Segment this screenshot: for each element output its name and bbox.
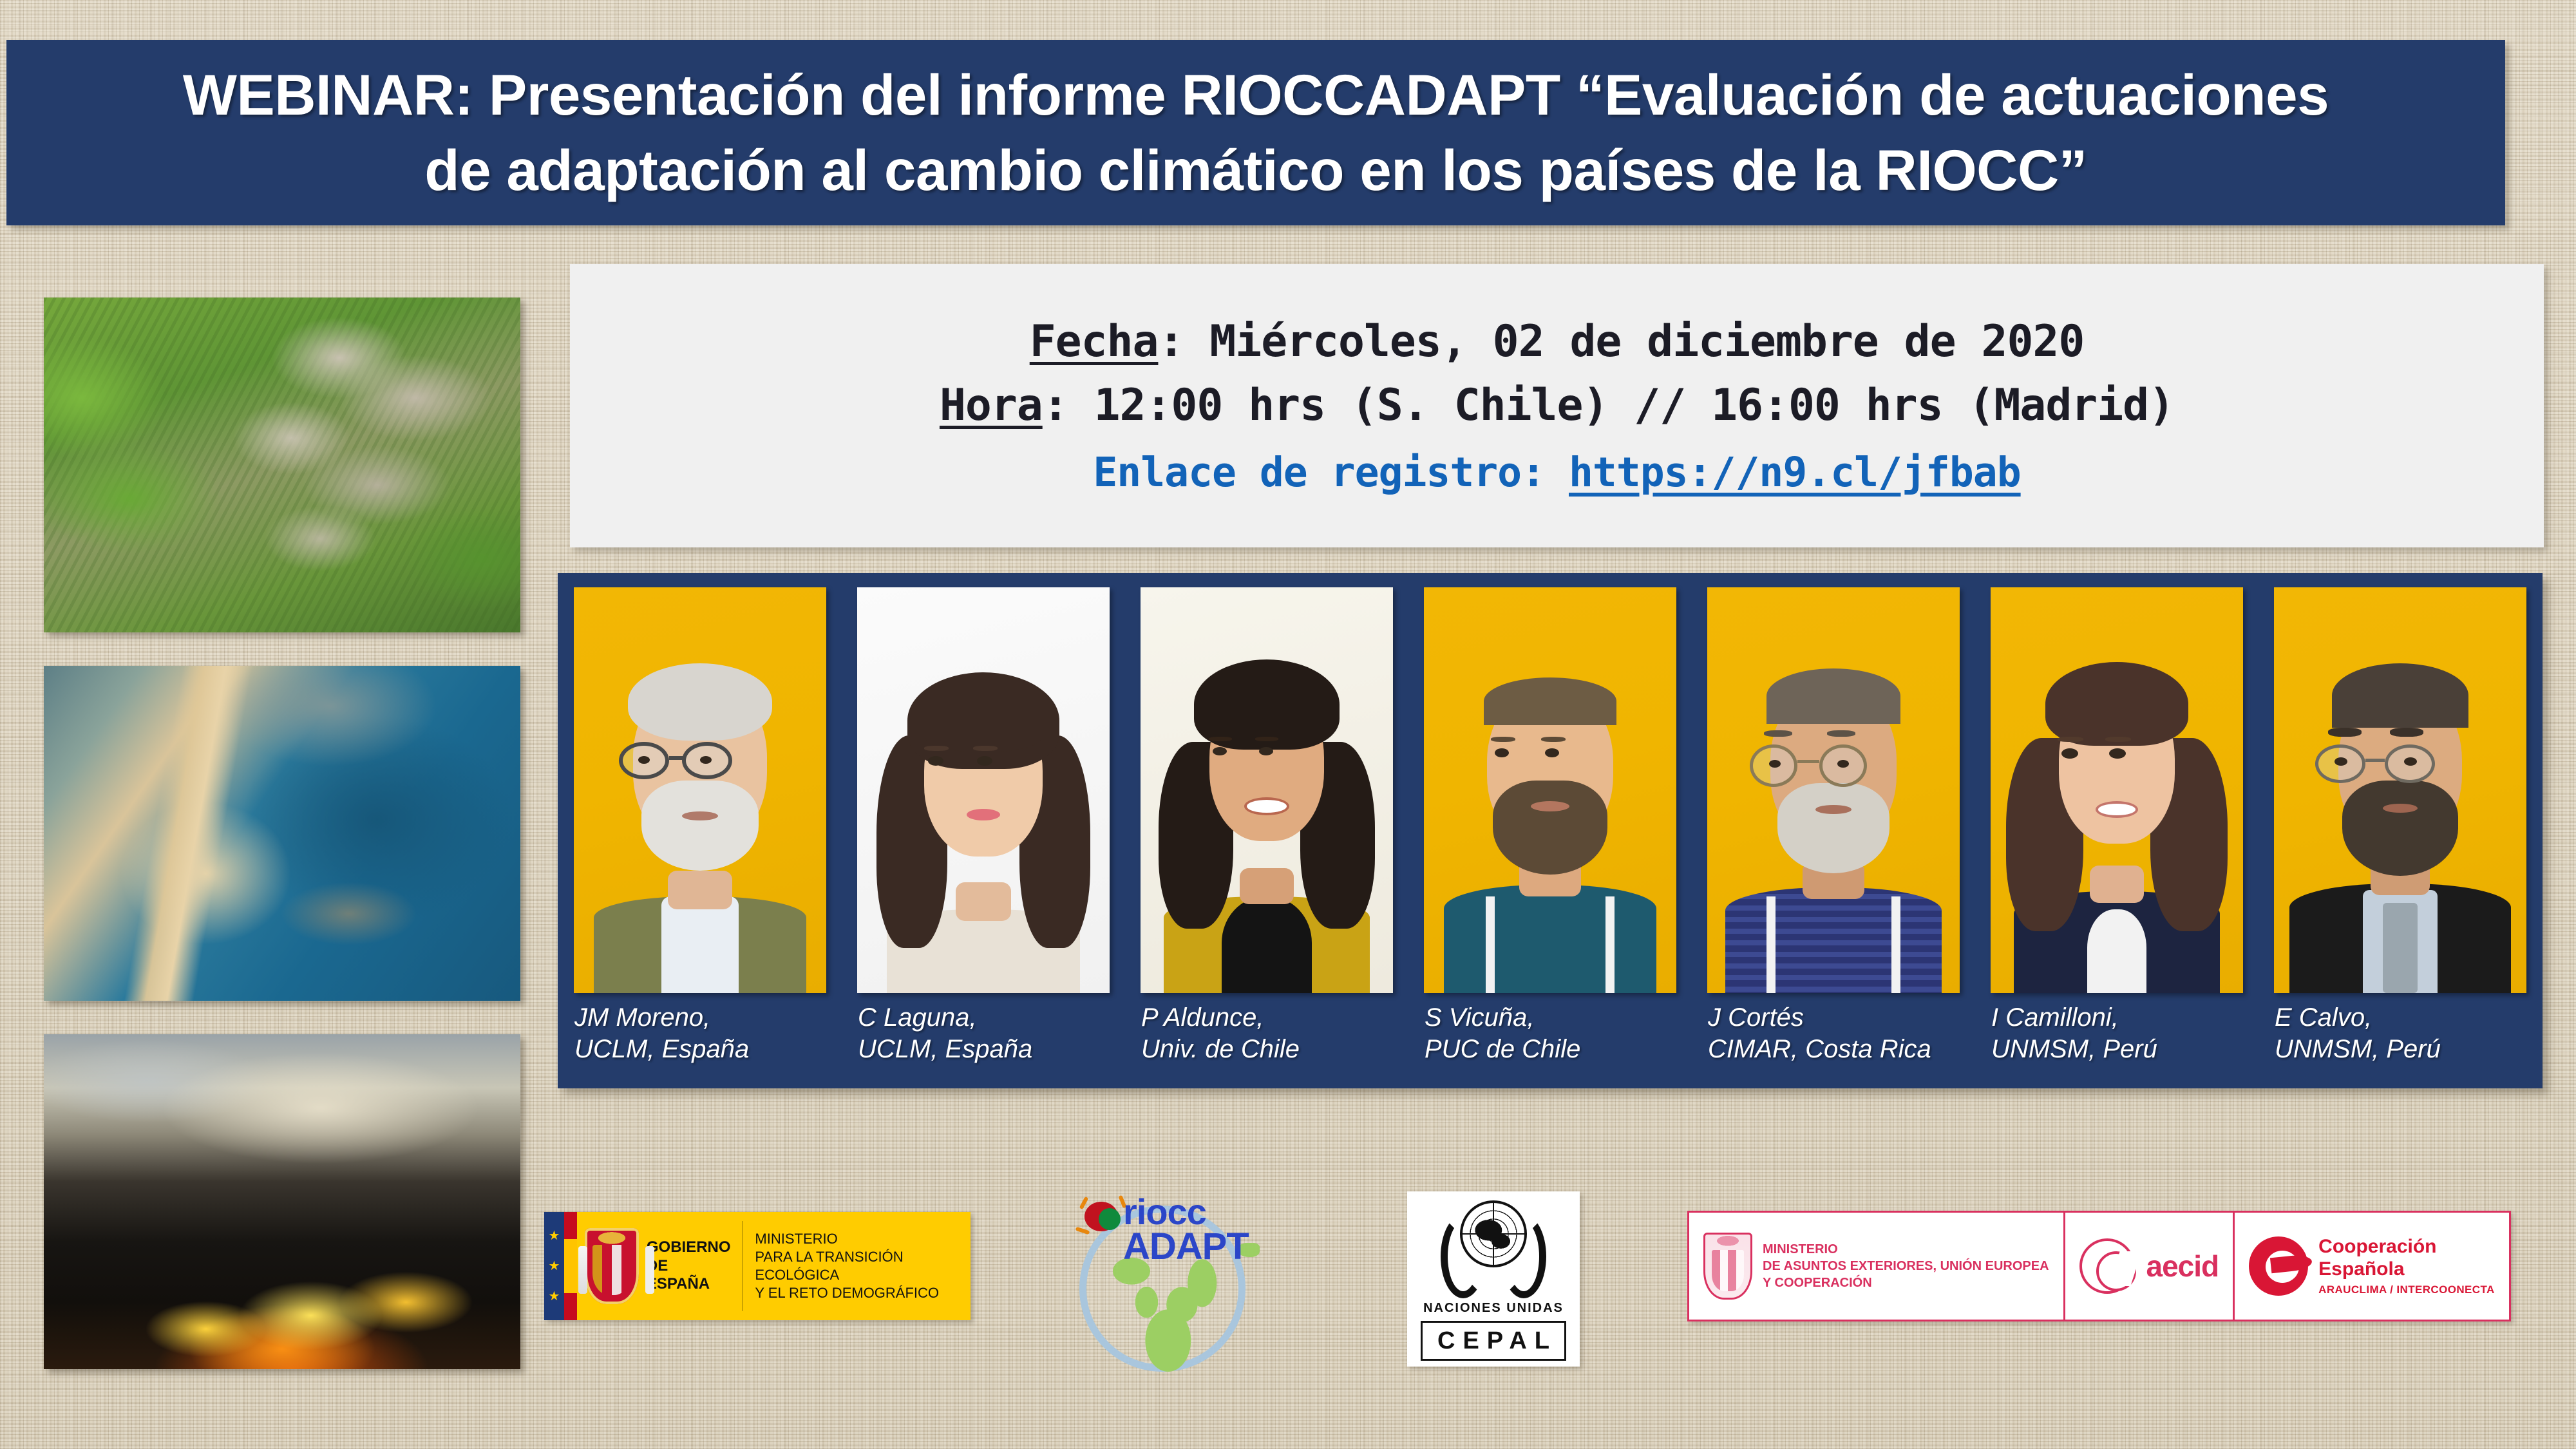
logo-row: ★ ★ ★ GOBIERNO DE ESPAÑA MINISTERIO PARA…	[0, 1191, 2576, 1385]
arauclima-intercoonecta-text: ARAUCLIMA / INTERCOONECTA	[2318, 1283, 2494, 1296]
speaker-affiliation: UCLM, España	[574, 1034, 749, 1065]
registration-line: Enlace de registro: https://n9.cl/jfbab	[1093, 449, 2020, 496]
event-time-line: Hora: 12:00 hrs (S. Chile) // 16:00 hrs …	[940, 380, 2174, 431]
naciones-unidas-text: NACIONES UNIDAS	[1423, 1301, 1564, 1316]
time-value: : 12:00 hrs (S. Chile) // 16:00 hrs (Mad…	[1043, 380, 2174, 431]
title-line-1: WEBINAR: Presentación del informe RIOCCA…	[183, 57, 2329, 133]
speaker-caption: I Camilloni, UNMSM, Perú	[1987, 1002, 2157, 1065]
speaker-card: P Aldunce, Univ. de Chile	[1137, 587, 1396, 1065]
cooperacion-espanola-logo: Cooperación Española ARAUCLIMA / INTERCO…	[2235, 1213, 2508, 1320]
speaker-caption: C Laguna, UCLM, España	[854, 1002, 1032, 1065]
speaker-photo-jm-moreno	[574, 587, 826, 993]
registration-label: Enlace de registro:	[1093, 449, 1569, 496]
cepal-text: CEPAL	[1430, 1327, 1557, 1355]
speaker-card: J Cortés CIMAR, Costa Rica	[1704, 587, 1963, 1065]
sun-earth-icon	[1079, 1197, 1128, 1236]
eu-stars: ★ ★ ★	[544, 1212, 564, 1320]
ministerio-transicion-ecologica-text: MINISTERIO PARA LA TRANSICIÓN ECOLÓGICA …	[743, 1230, 971, 1303]
united-nations-emblem-icon	[1438, 1197, 1549, 1300]
riocc-adapt-logo: riocc ADAPT	[1056, 1188, 1269, 1381]
riocc-adapt-wordmark: riocc ADAPT	[1123, 1195, 1249, 1264]
star-icon: ★	[549, 1229, 560, 1242]
maec-text: MINISTERIO DE ASUNTOS EXTERIORES, UNIÓN …	[1763, 1241, 2049, 1291]
cooperacion-espanola-text: Cooperación Española ARAUCLIMA / INTERCO…	[2318, 1236, 2494, 1296]
speaker-photo-j-cortes	[1707, 587, 1960, 993]
aecid-logo: aecid	[2065, 1213, 2233, 1320]
star-icon: ★	[549, 1290, 560, 1303]
speaker-photo-e-calvo	[2274, 587, 2526, 993]
registration-link[interactable]: https://n9.cl/jfbab	[1569, 449, 2021, 496]
speaker-affiliation: PUC de Chile	[1425, 1034, 1580, 1065]
speaker-name: C Laguna,	[858, 1002, 1032, 1034]
spain-coat-of-arms-icon	[585, 1228, 639, 1304]
aecid-text: aecid	[2146, 1249, 2219, 1283]
speaker-caption: S Vicuña, PUC de Chile	[1421, 1002, 1580, 1065]
riocc-word: riocc	[1123, 1195, 1249, 1229]
speaker-panel: JM Moreno, UCLM, España C Laguna, UCLM, …	[558, 573, 2543, 1088]
speaker-affiliation: CIMAR, Costa Rica	[1708, 1034, 1931, 1065]
speaker-card: I Camilloni, UNMSM, Perú	[1987, 587, 2246, 1065]
speaker-name: I Camilloni,	[1991, 1002, 2157, 1034]
gobierno-de-espana-text: GOBIERNO DE ESPAÑA	[643, 1238, 743, 1294]
speaker-caption: E Calvo, UNMSM, Perú	[2271, 1002, 2441, 1065]
cooperacion-espanola-logo-group: MINISTERIO DE ASUNTOS EXTERIORES, UNIÓN …	[1687, 1211, 2511, 1321]
cooperacion-line1: Cooperación	[2318, 1236, 2494, 1258]
speaker-card: E Calvo, UNMSM, Perú	[2271, 587, 2530, 1065]
star-icon: ★	[549, 1260, 560, 1273]
speaker-name: P Aldunce,	[1141, 1002, 1300, 1034]
hillside-informal-settlement-photo	[44, 298, 520, 632]
spain-coat-of-arms-icon	[1703, 1233, 1752, 1300]
speaker-photo-i-camilloni	[1991, 587, 2243, 993]
eu-flag-bar: ★ ★ ★	[544, 1212, 564, 1320]
speaker-name: J Cortés	[1708, 1002, 1931, 1034]
speaker-photo-c-laguna	[857, 587, 1110, 993]
cooperacion-line2: Española	[2318, 1258, 2494, 1281]
time-label: Hora	[940, 380, 1043, 431]
gobierno-miteco-logo: ★ ★ ★ GOBIERNO DE ESPAÑA MINISTERIO PARA…	[544, 1212, 971, 1320]
event-info-box: Fecha: Miércoles, 02 de diciembre de 202…	[570, 264, 2544, 547]
adapt-word: ADAPT	[1123, 1229, 1249, 1265]
title-line-2: de adaptación al cambio climático en los…	[424, 133, 2087, 208]
date-value: : Miércoles, 02 de diciembre de 2020	[1158, 316, 2084, 367]
cepal-logo: NACIONES UNIDAS CEPAL	[1407, 1191, 1580, 1367]
speaker-photo-s-vicuna	[1424, 587, 1676, 993]
speaker-card: C Laguna, UCLM, España	[854, 587, 1113, 1065]
cepal-name-box: CEPAL	[1421, 1321, 1566, 1361]
speaker-caption: JM Moreno, UCLM, España	[571, 1002, 749, 1065]
speaker-photo-p-aldunce	[1141, 587, 1393, 993]
aecid-c-mark-icon	[2079, 1238, 2135, 1294]
aerial-coastal-bay-photo	[44, 666, 520, 1001]
speaker-card: S Vicuña, PUC de Chile	[1421, 587, 1680, 1065]
latin-america-map-icon	[1099, 1252, 1225, 1372]
cooperacion-c-mark-icon	[2249, 1236, 2308, 1296]
speaker-caption: P Aldunce, Univ. de Chile	[1137, 1002, 1300, 1065]
spain-flag-stripe	[564, 1212, 577, 1320]
maec-logo: MINISTERIO DE ASUNTOS EXTERIORES, UNIÓN …	[1689, 1213, 2063, 1320]
speaker-affiliation: Univ. de Chile	[1141, 1034, 1300, 1065]
date-label: Fecha	[1030, 316, 1159, 367]
event-date-line: Fecha: Miércoles, 02 de diciembre de 202…	[1030, 316, 2085, 367]
speaker-name: JM Moreno,	[574, 1002, 749, 1034]
title-banner: WEBINAR: Presentación del informe RIOCCA…	[6, 40, 2505, 225]
speaker-affiliation: UNMSM, Perú	[2275, 1034, 2441, 1065]
speaker-card: JM Moreno, UCLM, España	[571, 587, 829, 1065]
speaker-affiliation: UCLM, España	[858, 1034, 1032, 1065]
speaker-name: E Calvo,	[2275, 1002, 2441, 1034]
speaker-affiliation: UNMSM, Perú	[1991, 1034, 2157, 1065]
speaker-caption: J Cortés CIMAR, Costa Rica	[1704, 1002, 1931, 1065]
speaker-name: S Vicuña,	[1425, 1002, 1580, 1034]
